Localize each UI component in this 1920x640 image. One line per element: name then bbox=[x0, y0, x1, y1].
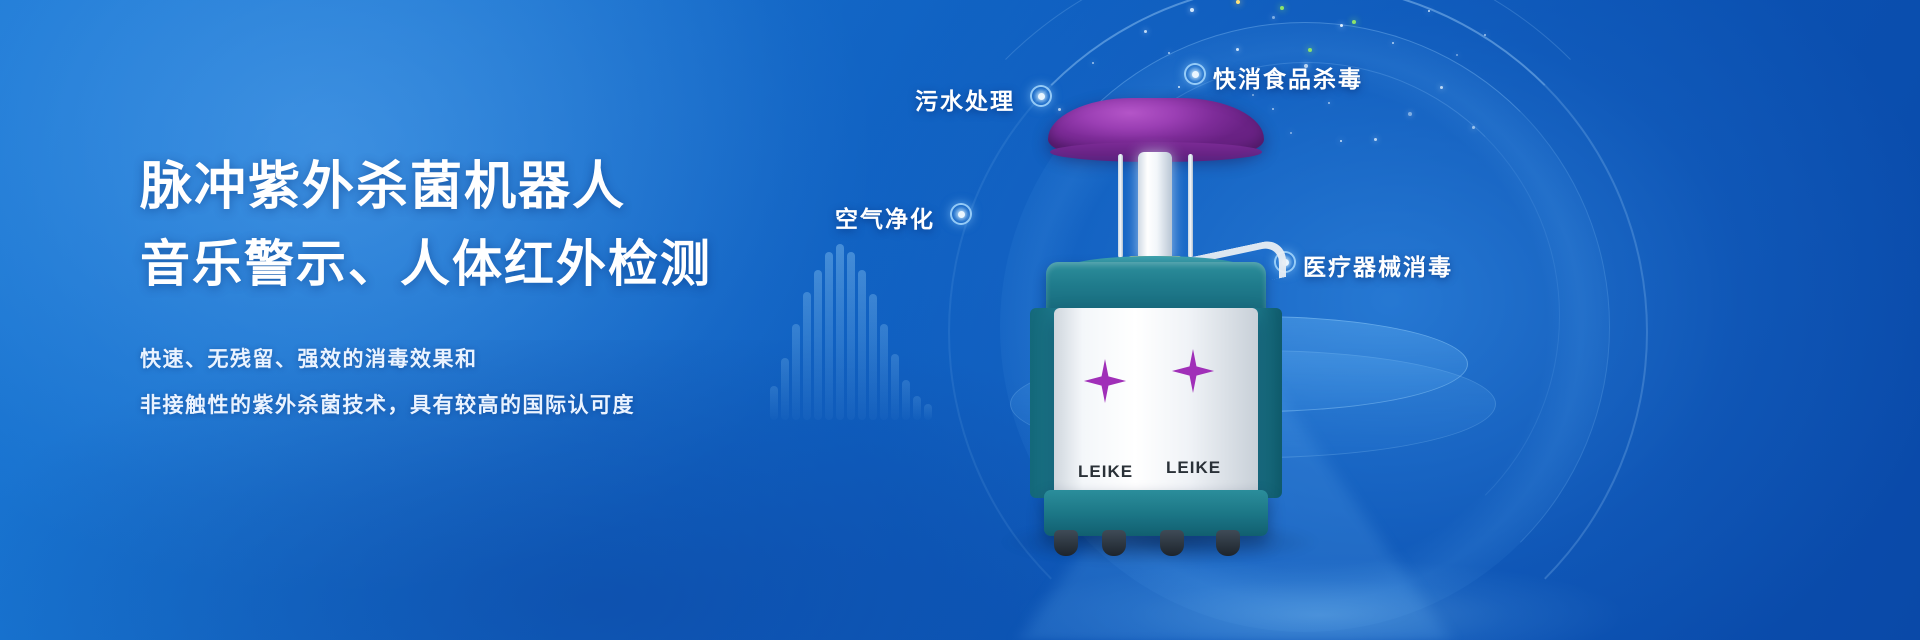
page-subtitle: 音乐警示、人体红外检测 bbox=[140, 226, 860, 302]
brand-logo-left: LEIKE bbox=[1078, 462, 1133, 482]
robot-wheel bbox=[1160, 530, 1184, 556]
sparkle-logo-icon-right bbox=[1170, 348, 1216, 394]
page-title: 脉冲紫外杀菌机器人 bbox=[140, 150, 860, 226]
floor-glow bbox=[1020, 560, 1620, 640]
uv-lamp-tube bbox=[1138, 152, 1172, 262]
uv-disinfection-robot: LEIKE LEIKE bbox=[1030, 90, 1280, 510]
robot-body-side-right bbox=[1254, 308, 1282, 498]
lamp-rod-left bbox=[1118, 154, 1123, 258]
feature-node-fmcg-food-disinfection[interactable] bbox=[1184, 63, 1206, 85]
feature-label-air-purification: 空气净化 bbox=[835, 200, 935, 234]
robot-wheel bbox=[1054, 530, 1078, 556]
robot-wheel bbox=[1216, 530, 1240, 556]
brand-logo-right: LEIKE bbox=[1166, 458, 1221, 478]
robot-wheel bbox=[1102, 530, 1126, 556]
hero-copy: 脉冲紫外杀菌机器人 音乐警示、人体红外检测 快速、无残留、强效的消毒效果和 非接… bbox=[140, 150, 860, 428]
feature-label-fmcg-food-disinfection: 快消食品杀毒 bbox=[1213, 60, 1363, 94]
sparkle-logo-icon-left bbox=[1082, 358, 1128, 404]
feature-node-air-purification[interactable] bbox=[950, 203, 972, 225]
description-line-1: 快速、无残留、强效的消毒效果和 bbox=[140, 336, 860, 382]
hero-banner: 脉冲紫外杀菌机器人 音乐警示、人体红外检测 快速、无残留、强效的消毒效果和 非接… bbox=[0, 0, 1920, 640]
lamp-rod-right bbox=[1188, 154, 1193, 258]
robot-deck bbox=[1046, 262, 1266, 314]
feature-label-medical-device-disinfection: 医疗器械消毒 bbox=[1303, 248, 1453, 282]
description-line-2: 非接触性的紫外杀菌技术，具有较高的国际认可度 bbox=[140, 382, 860, 428]
feature-label-wastewater-treatment: 污水处理 bbox=[915, 82, 1015, 116]
